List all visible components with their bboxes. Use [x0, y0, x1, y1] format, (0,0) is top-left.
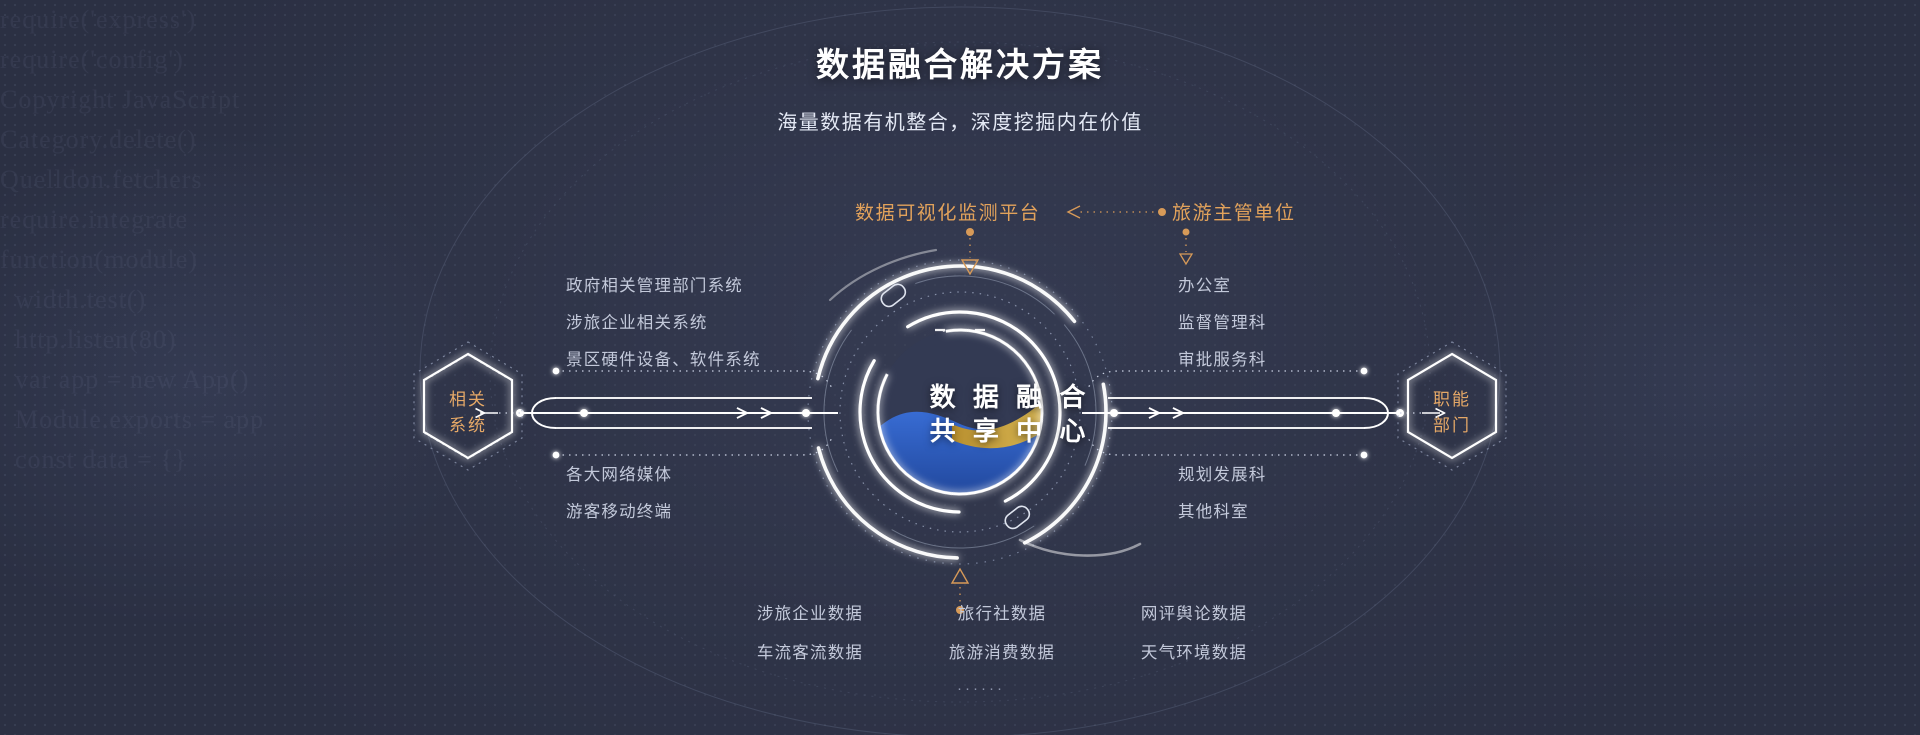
hexagon-right-label-line2: 部门: [1392, 413, 1512, 439]
list-item: 各大网络媒体: [566, 461, 672, 485]
hexagon-right-label: 职能 部门: [1392, 387, 1512, 439]
list-item: 涉旅企业相关系统: [566, 309, 761, 333]
source-list-top: 政府相关管理部门系统 涉旅企业相关系统 景区硬件设备、软件系统: [566, 272, 761, 370]
list-item: 政府相关管理部门系统: [566, 272, 761, 296]
list-item: 游客移动终端: [566, 498, 672, 522]
label-tourism-authority: 旅游主管单位: [1172, 198, 1296, 225]
list-item: 审批服务科: [1178, 346, 1267, 370]
left-connector-rail: [480, 368, 838, 459]
data-type-item: 网评舆论数据: [1119, 600, 1269, 624]
list-item: 规划发展科: [1178, 461, 1267, 485]
list-item: 办公室: [1178, 272, 1267, 296]
list-item: 景区硬件设备、软件系统: [566, 346, 761, 370]
header: 数据融合解决方案 海量数据有机整合，深度挖掘内在价值: [0, 38, 1920, 135]
hexagon-left-label-line1: 相关: [408, 387, 528, 413]
top-orange-connector: [1068, 206, 1166, 218]
page-title: 数据融合解决方案: [0, 38, 1920, 86]
data-type-item: 旅行社数据: [927, 600, 1077, 624]
data-type-item: 涉旅企业数据: [735, 600, 885, 624]
page-subtitle: 海量数据有机整合，深度挖掘内在价值: [0, 106, 1920, 135]
label-visualization-platform: 数据可视化监测平台: [855, 198, 1040, 225]
data-types-ellipsis: ······: [735, 680, 1227, 697]
department-list-top: 办公室 监督管理科 审批服务科: [1178, 272, 1267, 370]
authority-to-departments-connector: [1180, 229, 1192, 265]
source-list-bottom: 各大网络媒体 游客移动终端: [566, 461, 672, 522]
hexagon-right-label-line1: 职能: [1392, 387, 1512, 413]
data-type-item: 车流客流数据: [735, 639, 885, 663]
data-types-grid: 涉旅企业数据 旅行社数据 网评舆论数据 车流客流数据 旅游消费数据 天气环境数据: [735, 600, 1269, 663]
center-core-disc: [865, 317, 1055, 507]
hexagon-left-label-line2: 系统: [408, 413, 528, 439]
list-item: 其他科室: [1178, 498, 1267, 522]
hexagon-left-label: 相关 系统: [408, 387, 528, 439]
right-connector-rail: [1082, 368, 1440, 459]
department-list-bottom: 规划发展科 其他科室: [1178, 461, 1267, 522]
data-type-item: 旅游消费数据: [927, 639, 1077, 663]
data-type-item: 天气环境数据: [1119, 639, 1269, 663]
list-item: 监督管理科: [1178, 309, 1267, 333]
